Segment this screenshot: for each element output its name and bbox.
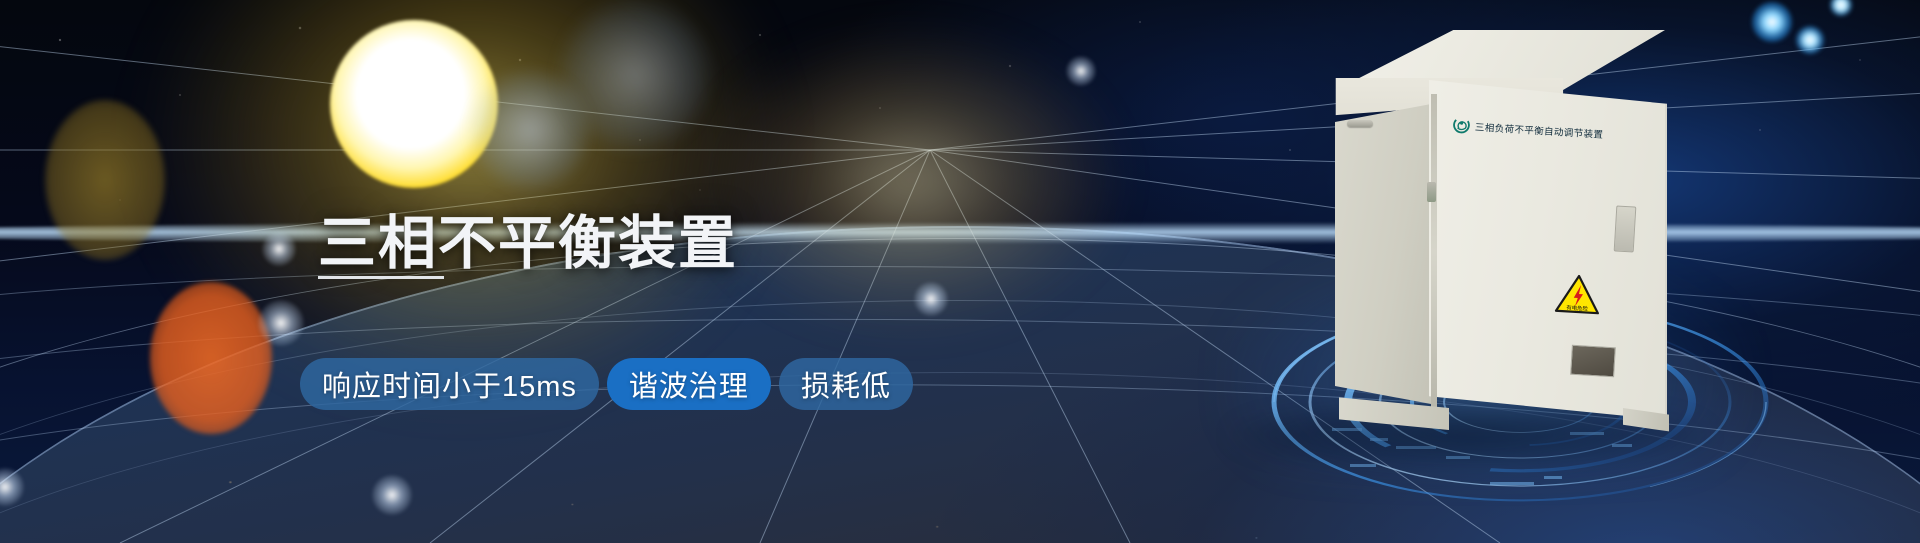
bokeh-blue-spark <box>1796 26 1824 54</box>
teal-swirl-logo-icon <box>1452 116 1470 134</box>
electrical-hazard-warning-icon: 有电危险 <box>1554 273 1602 316</box>
mesh-node-glow <box>1066 56 1096 86</box>
mesh-node-glow <box>372 475 412 515</box>
feature-pill-list: 响应时间小于15ms 谐波治理 损耗低 <box>300 358 913 410</box>
mesh-node-glow <box>914 282 948 316</box>
cabinet-side-panel <box>1335 104 1431 404</box>
bokeh-blue-soft <box>560 0 710 150</box>
bokeh-orange <box>150 282 272 434</box>
cabinet-handle <box>1347 120 1373 127</box>
mesh-node-glow <box>258 300 304 346</box>
cabinet-lock <box>1427 182 1436 202</box>
lens-flare-glow <box>700 30 1120 330</box>
feature-pill-harmonic-treatment[interactable]: 谐波治理 <box>607 358 771 410</box>
mesh-node-glow <box>262 232 296 266</box>
cabinet-lower-vent <box>1570 345 1616 378</box>
bokeh-bright-sun <box>330 20 498 188</box>
feature-pill-low-loss[interactable]: 损耗低 <box>779 358 913 410</box>
product-cabinet: 三相负荷不平衡自动调节装置 有电危险 <box>1255 20 1695 450</box>
cabinet-side-vent <box>1614 205 1637 252</box>
bokeh-olive <box>45 100 165 260</box>
product-hero-banner: 三相负荷不平衡自动调节装置 有电危险 三相不平衡装置 响应时间小于15ms 谐波… <box>0 0 1920 543</box>
title-divider <box>318 276 444 279</box>
feature-pill-response-time[interactable]: 响应时间小于15ms <box>300 358 599 410</box>
bokeh-blue-spark <box>1752 2 1792 42</box>
banner-title: 三相不平衡装置 <box>318 196 738 280</box>
cabinet-door-seam <box>1431 94 1437 412</box>
